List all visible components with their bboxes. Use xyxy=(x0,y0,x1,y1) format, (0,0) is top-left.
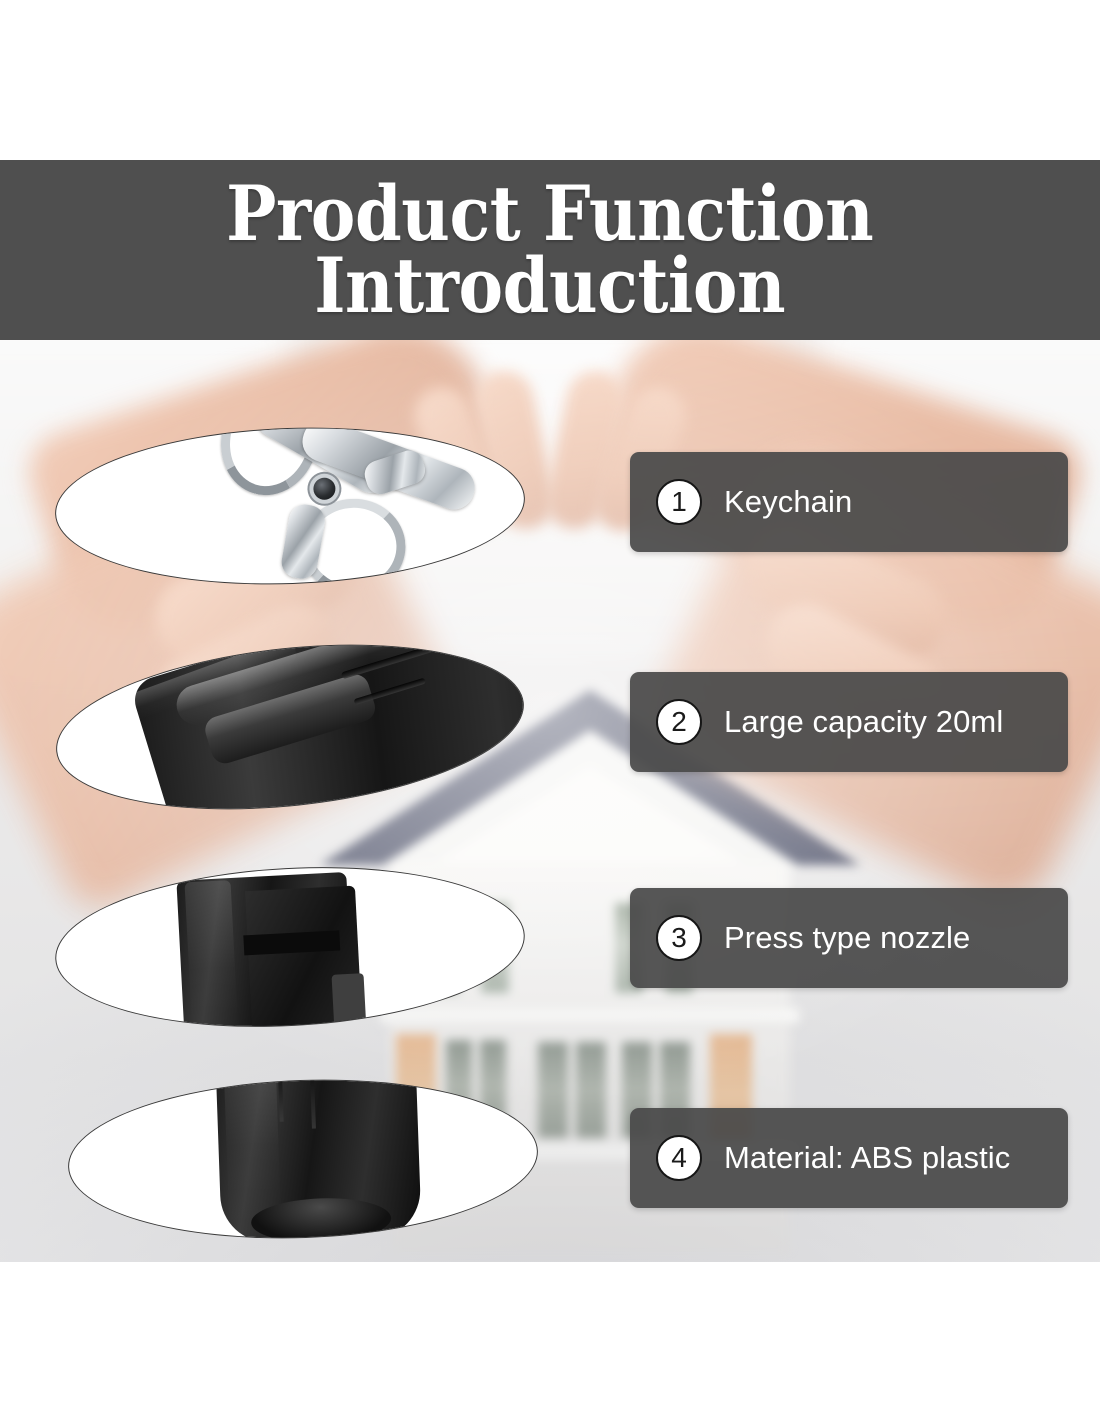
feature-number-badge-2: 2 xyxy=(656,699,702,745)
feature-inset-3 xyxy=(51,856,529,1038)
feature-label-4: Material: ABS plastic xyxy=(724,1140,1010,1176)
page-title: Product Function Introduction xyxy=(226,178,873,322)
bottle-base-photo xyxy=(66,1073,539,1245)
feature-label-3: Press type nozzle xyxy=(724,920,970,956)
product-infographic: Product Function Introduction xyxy=(0,0,1100,1422)
feature-inset-4 xyxy=(65,1072,540,1246)
nozzle-photo xyxy=(52,857,528,1037)
feature-number-badge-3: 3 xyxy=(656,915,702,961)
feature-bar-4[interactable]: 4 Material: ABS plastic xyxy=(630,1108,1068,1208)
feature-label-1: Keychain xyxy=(724,484,852,520)
feature-number-badge-1: 1 xyxy=(656,479,702,525)
keychain-clasp-photo xyxy=(53,421,526,591)
feature-label-2: Large capacity 20ml xyxy=(724,704,1003,740)
feature-bar-1[interactable]: 1 Keychain xyxy=(630,452,1068,552)
header-band: Product Function Introduction xyxy=(0,160,1100,340)
feature-bar-3[interactable]: 3 Press type nozzle xyxy=(630,888,1068,988)
feature-number-badge-4: 4 xyxy=(656,1135,702,1181)
feature-inset-1 xyxy=(52,420,527,592)
feature-bar-2[interactable]: 2 Large capacity 20ml xyxy=(630,672,1068,772)
